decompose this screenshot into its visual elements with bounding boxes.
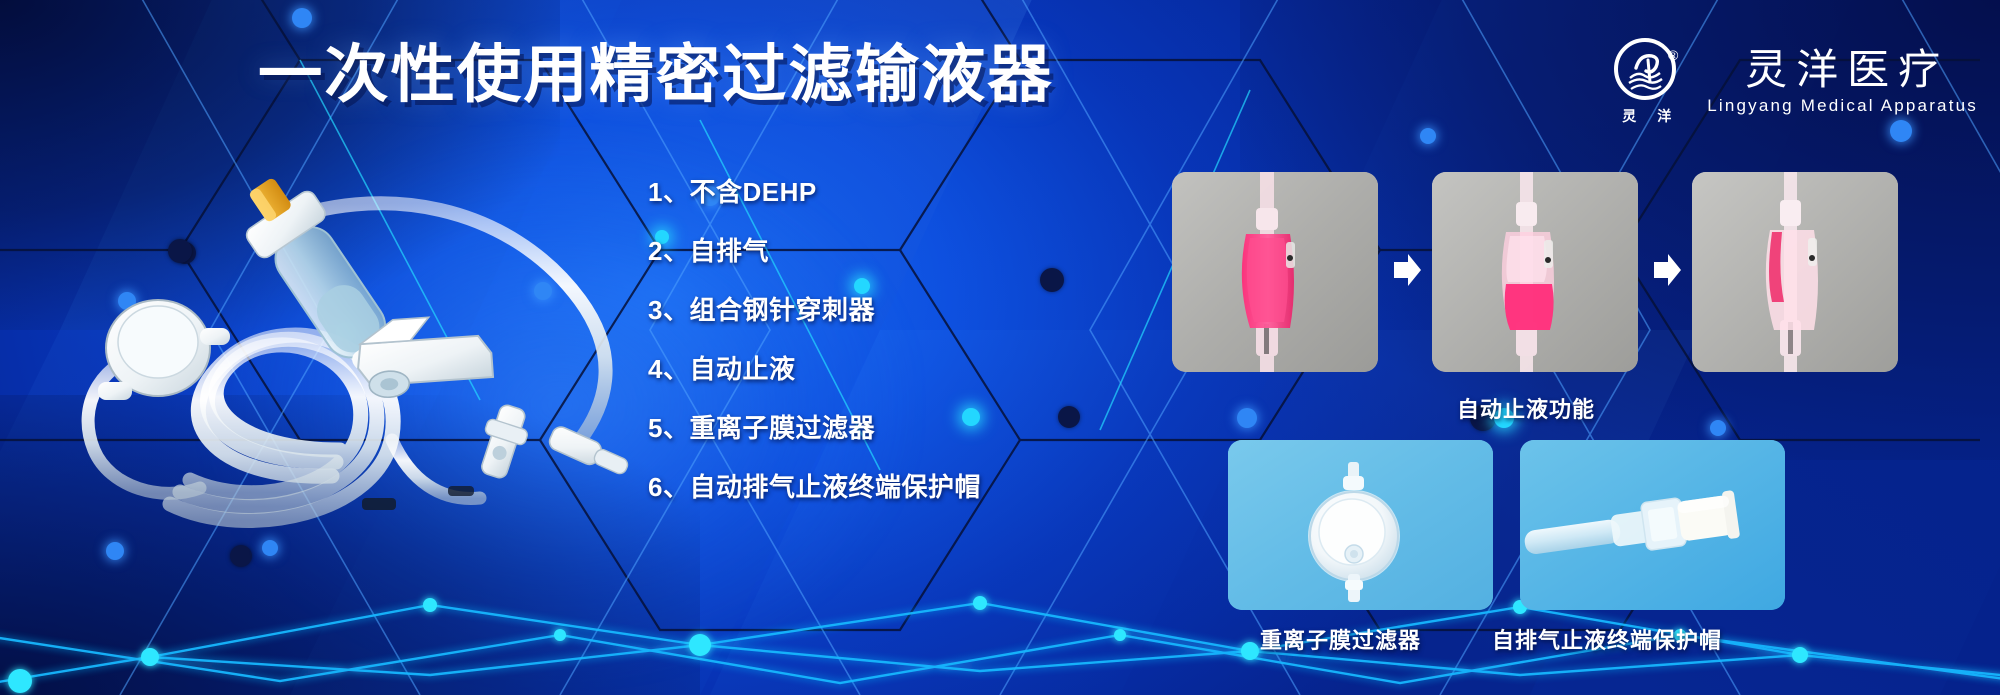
feature-list: 1、不含DEHP 2、自排气 3、组合钢针穿刺器 4、自动止液 5、重离子膜过滤…: [648, 172, 981, 504]
logo-mark-caption-left: 灵: [1622, 106, 1637, 126]
demo-sequence-caption: 自动止液功能: [1457, 392, 1595, 424]
logo-mark-caption: 灵 洋: [1622, 106, 1672, 126]
network-node: [1420, 128, 1436, 144]
lingyang-circular-emblem-icon: ®: [1614, 38, 1680, 104]
feature-item-4: 4、自动止液: [648, 349, 981, 386]
detail-photo-cap[interactable]: [1520, 440, 1785, 610]
feature-item-3: 3、组合钢针穿刺器: [648, 290, 981, 327]
tube-clamp: [472, 401, 534, 482]
feature-item-6: 6、自动排气止液终端保护帽: [648, 467, 981, 504]
network-node: [292, 8, 312, 28]
detail-photo-cap-caption: 自排气止液终端保护帽: [1492, 623, 1722, 655]
network-node: [1040, 268, 1064, 292]
logo-mark-caption-right: 洋: [1657, 106, 1672, 126]
feature-item-1: 1、不含DEHP: [648, 172, 981, 209]
tube-marker: [448, 486, 474, 496]
page-title: 一次性使用精密过滤输液器: [258, 44, 1054, 107]
tube-marker: [362, 498, 396, 510]
network-node: [1058, 406, 1080, 428]
company-name-en: Lingyang Medical Apparatus: [1707, 96, 1978, 116]
product-photo-infusion-set: [40, 150, 640, 530]
feature-item-5: 5、重离子膜过滤器: [648, 408, 981, 445]
network-node: [1710, 420, 1726, 436]
demo-photo-step-3[interactable]: [1692, 172, 1898, 372]
demo-photo-step-1[interactable]: [1172, 172, 1378, 372]
logo-mark: ® 灵 洋: [1601, 38, 1693, 126]
feature-item-2: 2、自排气: [648, 231, 981, 268]
network-node: [1237, 408, 1257, 428]
brand-logo[interactable]: ® 灵 洋 灵洋医疗 Lingyang Medical Apparatus: [1601, 38, 1978, 126]
detail-photo-filter[interactable]: [1228, 440, 1493, 610]
registered-mark-icon: ®: [1668, 47, 1679, 63]
company-name-cn: 灵洋医疗: [1736, 48, 1949, 92]
detail-photo-filter-caption: 重离子膜过滤器: [1260, 623, 1421, 655]
arrow-right-icon-2: [1652, 252, 1682, 288]
logo-text-block: 灵洋医疗 Lingyang Medical Apparatus: [1707, 48, 1978, 116]
banner-stage: 一次性使用精密过滤输液器 ® 灵 洋 灵洋医疗 Ling: [0, 0, 2000, 695]
demo-photo-step-2[interactable]: [1432, 172, 1638, 372]
arrow-right-icon-1: [1392, 252, 1422, 288]
